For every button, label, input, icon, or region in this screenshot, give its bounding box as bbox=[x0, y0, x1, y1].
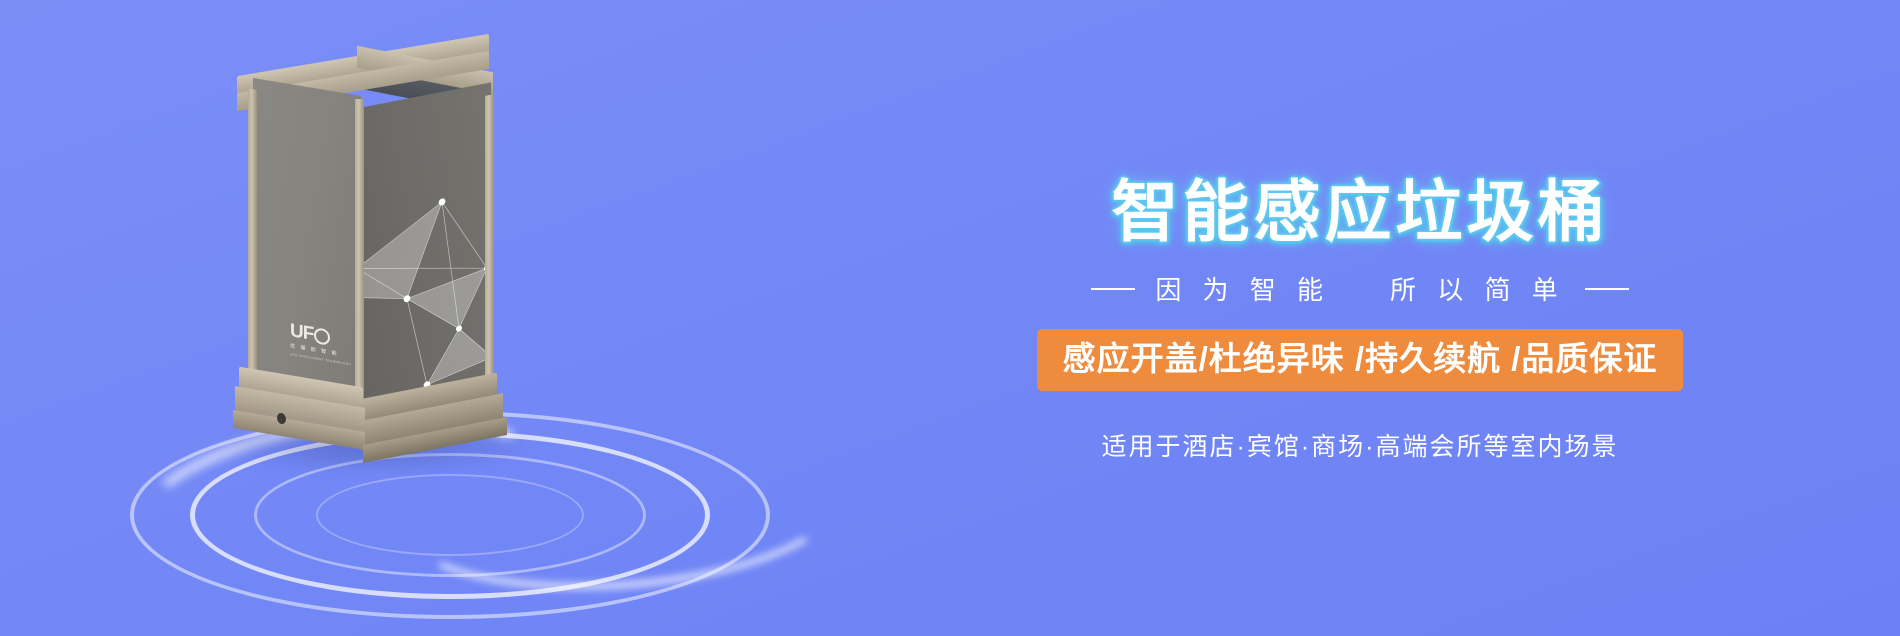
banner-copy: 智能感应垃圾桶 因 为 智 能 所 以 简 单 感应开盖/杜绝异味 /持久续航 … bbox=[880, 0, 1840, 636]
trash-bin-illustration: UF 优 福 欧 智 能 UFO INTELLIGENT TECHNOLOGY bbox=[235, 55, 525, 425]
tagline-part-2: 所 以 简 单 bbox=[1390, 270, 1565, 307]
tagline: 因 为 智 能 所 以 简 单 bbox=[1091, 270, 1628, 307]
page-title: 智能感应垃圾桶 bbox=[1112, 179, 1609, 246]
tagline-part-1: 因 为 智 能 bbox=[1155, 270, 1330, 307]
bin-edge-pillar-right bbox=[485, 94, 494, 402]
bin-edge-pillar-left bbox=[248, 88, 257, 402]
product-scene: UF 优 福 欧 智 能 UFO INTELLIGENT TECHNOLOGY bbox=[60, 0, 880, 636]
brand-logo-ring-icon bbox=[314, 327, 330, 346]
feature-highlight-bar: 感应开盖/杜绝异味 /持久续航 /品质保证 bbox=[1037, 329, 1684, 391]
tagline-dash-right bbox=[1585, 288, 1629, 290]
sensor-port-icon bbox=[277, 412, 286, 425]
polygon-network-graphic bbox=[361, 171, 491, 410]
usage-scenario-text: 适用于酒店·宾馆·商场·高端会所等室内场景 bbox=[1102, 427, 1619, 463]
bin-face-right bbox=[361, 82, 491, 417]
brand-logo-letters: UF bbox=[290, 321, 313, 344]
tagline-dash-left bbox=[1091, 288, 1135, 290]
product-banner: UF 优 福 欧 智 能 UFO INTELLIGENT TECHNOLOGY … bbox=[0, 0, 1900, 636]
